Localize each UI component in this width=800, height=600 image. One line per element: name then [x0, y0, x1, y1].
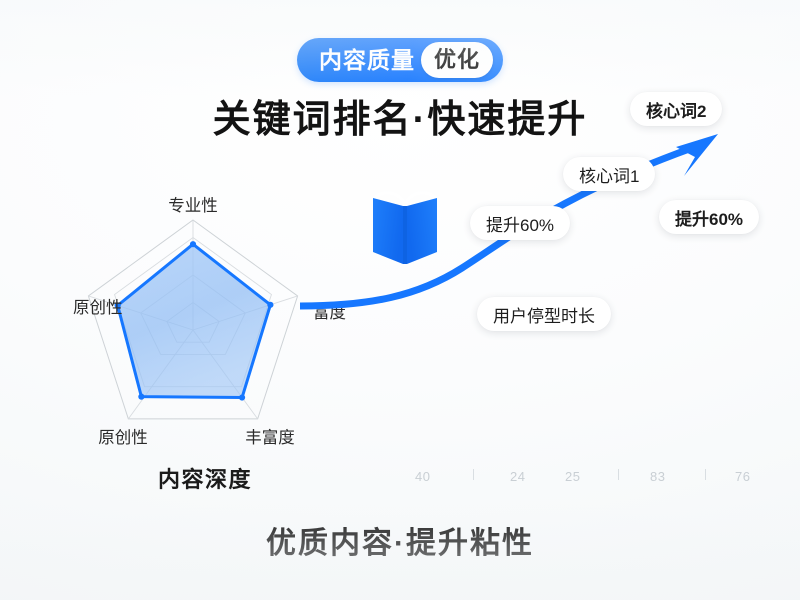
radar-label-bottom-right: 丰富度: [245, 428, 295, 447]
radar-label-top: 专业性: [168, 196, 218, 215]
radar-label-right: 富度: [313, 303, 346, 322]
axis-value-0: 40: [415, 469, 430, 484]
callout-keyword-2[interactable]: 核心词2: [630, 92, 722, 126]
axis-value-2: 25: [565, 469, 580, 484]
callout-dwell-time[interactable]: 用户停型时长: [477, 297, 611, 331]
footer-tagline: 优质内容·提升粘性: [0, 518, 800, 562]
axis-value-3: 83: [650, 469, 665, 484]
axis-tick-0: [473, 469, 474, 480]
radar-label-left: 原创性: [73, 298, 123, 317]
badge-chip-label: 优化: [421, 42, 493, 78]
axis-value-4: 76: [735, 469, 750, 484]
badge-container: 内容质量 优化: [0, 38, 800, 82]
radar-caption: 内容深度: [158, 462, 252, 494]
axis-tick-2: [705, 469, 706, 480]
callout-keyword-1[interactable]: 核心词1: [563, 157, 655, 191]
open-book-icon: [369, 186, 441, 272]
callout-uplift-right[interactable]: 提升60%: [659, 200, 759, 234]
radar-chart: 专业性 富度 丰富度 原创性 原创性: [30, 185, 370, 455]
callout-uplift-left[interactable]: 提升60%: [470, 206, 570, 240]
axis-value-1: 24: [510, 469, 525, 484]
content-quality-badge[interactable]: 内容质量 优化: [297, 38, 503, 82]
faint-axis-strip: 40 24 25 83 76: [405, 464, 755, 488]
radar-label-bottom-left: 原创性: [98, 428, 148, 447]
poster-canvas: 内容质量 优化 关键词排名·快速提升: [0, 0, 800, 600]
axis-tick-1: [618, 469, 619, 480]
badge-main-label: 内容质量: [319, 49, 415, 72]
radar-chart-svg: 专业性 富度 丰富度 原创性 原创性: [30, 185, 370, 455]
radar-data-area: [118, 244, 271, 397]
